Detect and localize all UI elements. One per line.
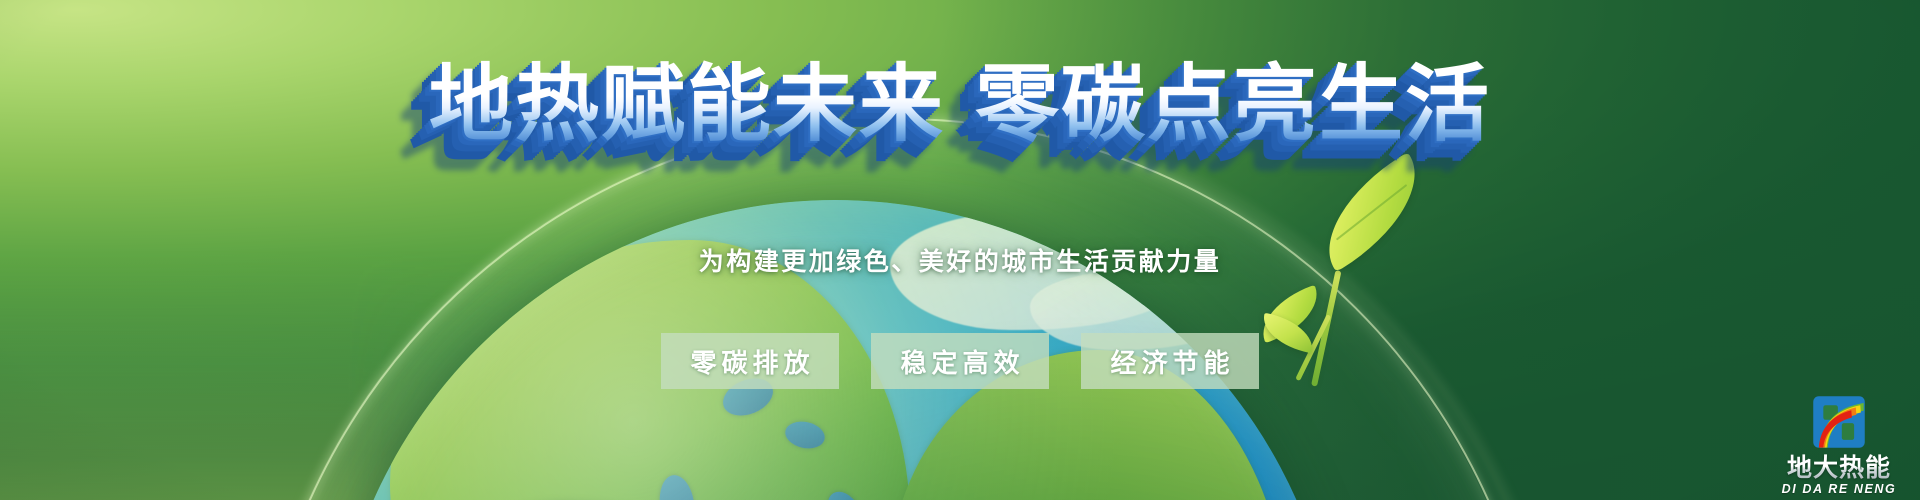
badge-economical-saving[interactable]: 经济节能 [1081,333,1259,389]
badge-zero-carbon[interactable]: 零碳排放 [661,333,839,389]
feature-badge-list: 零碳排放 稳定高效 经济节能 [0,333,1920,389]
didareneng-rainbow-mark-icon [1811,394,1867,450]
badge-stable-efficient[interactable]: 稳定高效 [871,333,1049,389]
headline-part-one: 地热赋能未来 [429,55,945,153]
headline-part-two: 零碳点亮生活 [975,55,1491,153]
badge-label: 经济节能 [1105,343,1234,380]
brand-name-cn: 地大热能 [1776,454,1902,481]
geothermal-promo-banner: 地热赋能未来零碳点亮生活 为构建更加绿色、美好的城市生活贡献力量 零碳排放 稳定… [0,0,1920,500]
badge-label: 稳定高效 [895,343,1024,380]
brand-name-en: DI DA RE NENG [1776,482,1902,496]
badge-label: 零碳排放 [685,343,814,380]
brand-logo[interactable]: 地大热能 DI DA RE NENG [1776,394,1902,496]
page-title: 地热赋能未来零碳点亮生活 [0,58,1920,150]
page-subtitle: 为构建更加绿色、美好的城市生活贡献力量 [0,242,1920,278]
